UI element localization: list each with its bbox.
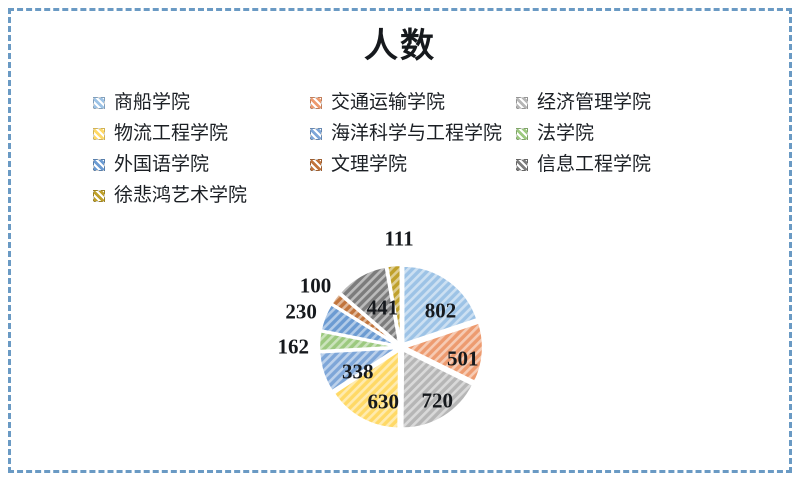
legend-label-wuliu: 物流工程学院 <box>114 123 228 145</box>
pie-slice[interactable] <box>402 350 473 428</box>
slide-canvas: 人数 商船学院 交通运输学院 经济管理学院 物流工程学院 海洋 <box>8 8 792 473</box>
pie-slice-label: 162 <box>278 334 310 359</box>
legend-label-waiguoyu: 外国语学院 <box>114 154 209 176</box>
pie-slice-label: 802 <box>425 299 457 324</box>
legend-label-shangchuan: 商船学院 <box>114 92 190 114</box>
pie-slice-label: 501 <box>447 346 479 371</box>
legend-swatch-shangchuan-icon <box>93 97 105 109</box>
legend-label-jingji: 经济管理学院 <box>537 92 651 114</box>
pie-chart-svg <box>11 11 795 476</box>
pie-slice[interactable] <box>332 294 398 345</box>
legend-item-shangchuan[interactable]: 商船学院 <box>93 89 190 117</box>
legend-swatch-jingji-icon <box>516 97 528 109</box>
legend-swatch-xubeihong-icon <box>93 190 105 202</box>
legend-item-wenli[interactable]: 文理学院 <box>310 151 407 179</box>
legend-swatch-faxue-icon <box>516 128 528 140</box>
pie-slice-label: 111 <box>384 227 413 252</box>
legend-item-haiyang[interactable]: 海洋科学与工程学院 <box>310 120 502 148</box>
pie-slice-group <box>319 265 483 428</box>
legend-swatch-wenli-icon <box>310 159 322 171</box>
pie-chart: 802501720630338162230100441111 <box>11 11 789 470</box>
legend-label-faxue: 法学院 <box>537 123 594 145</box>
legend-item-faxue[interactable]: 法学院 <box>516 120 594 148</box>
legend-label-haiyang: 海洋科学与工程学院 <box>331 123 502 145</box>
legend-label-xubeihong: 徐悲鸿艺术学院 <box>114 185 247 207</box>
legend-row: 外国语学院 文理学院 信息工程学院 <box>93 151 703 179</box>
pie-slice[interactable] <box>405 323 483 382</box>
legend-label-wenli: 文理学院 <box>331 154 407 176</box>
pie-slice-label: 441 <box>367 296 399 321</box>
pie-slice[interactable] <box>321 304 397 345</box>
pie-slice-label: 100 <box>300 274 332 299</box>
pie-slice[interactable] <box>319 331 397 351</box>
legend-swatch-waiguoyu-icon <box>93 159 105 171</box>
chart-title: 人数 <box>11 25 789 69</box>
legend-row: 商船学院 交通运输学院 经济管理学院 <box>93 89 703 117</box>
pie-slice-label: 630 <box>367 390 399 415</box>
pie-slice-label: 720 <box>422 388 454 413</box>
legend-item-jiaotong[interactable]: 交通运输学院 <box>310 89 445 117</box>
legend-label-xinxi: 信息工程学院 <box>537 154 651 176</box>
pie-slice-label: 338 <box>342 359 374 384</box>
legend-item-waiguoyu[interactable]: 外国语学院 <box>93 151 209 179</box>
legend-swatch-jiaotong-icon <box>310 97 322 109</box>
legend-label-jiaotong: 交通运输学院 <box>331 92 445 114</box>
pie-slice[interactable] <box>334 351 399 429</box>
legend-swatch-haiyang-icon <box>310 128 322 140</box>
legend-row: 物流工程学院 海洋科学与工程学院 法学院 <box>93 120 703 148</box>
legend-item-wuliu[interactable]: 物流工程学院 <box>93 120 228 148</box>
pie-slice[interactable] <box>319 348 397 391</box>
pie-slice[interactable] <box>387 265 400 343</box>
pie-slice[interactable] <box>340 267 399 344</box>
legend-row: 徐悲鸿艺术学院 <box>93 182 703 210</box>
legend-item-xinxi[interactable]: 信息工程学院 <box>516 151 651 179</box>
legend-swatch-wuliu-icon <box>93 128 105 140</box>
pie-slice-label: 230 <box>285 300 317 325</box>
chart-legend: 商船学院 交通运输学院 经济管理学院 物流工程学院 海洋科学与工程学院 <box>93 89 703 214</box>
pie-slice[interactable] <box>403 266 477 344</box>
legend-item-xubeihong[interactable]: 徐悲鸿艺术学院 <box>93 182 247 210</box>
legend-swatch-xinxi-icon <box>516 159 528 171</box>
legend-item-jingji[interactable]: 经济管理学院 <box>516 89 651 117</box>
